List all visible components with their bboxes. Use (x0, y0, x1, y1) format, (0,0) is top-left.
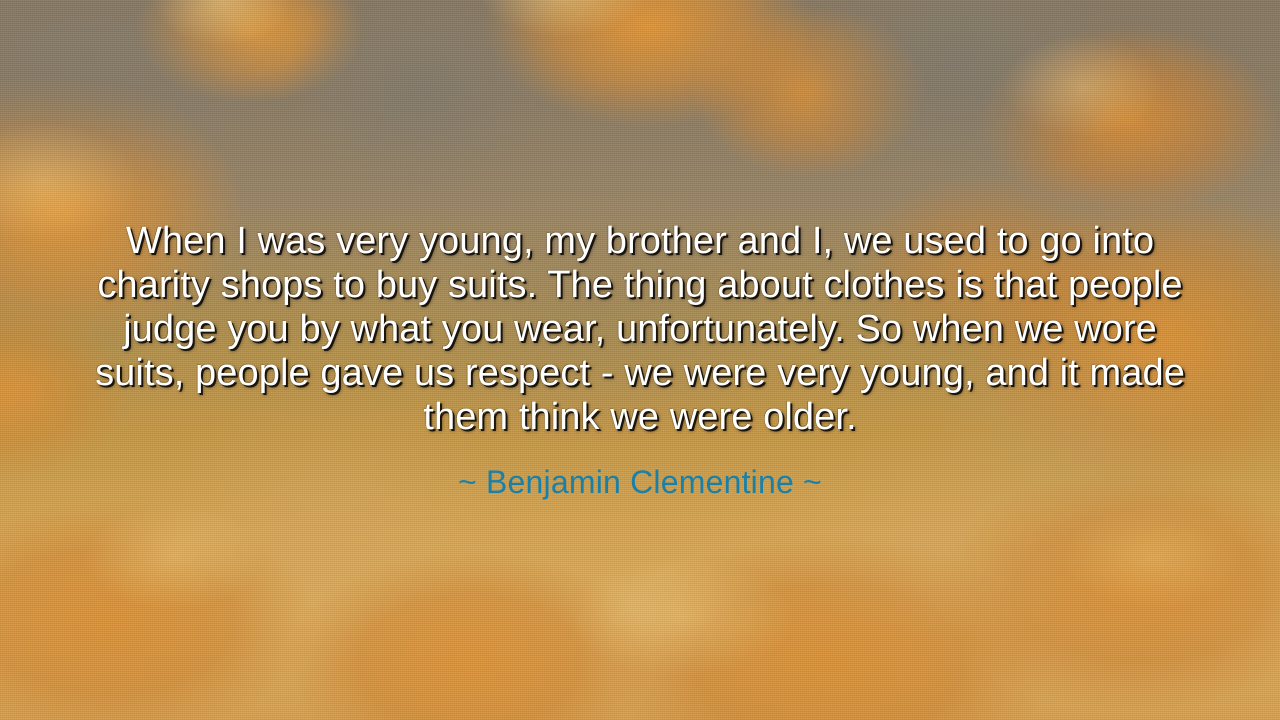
quote-text: When I was very young, my brother and I,… (91, 219, 1189, 439)
quote-card: When I was very young, my brother and I,… (0, 0, 1280, 720)
quote-content: When I was very young, my brother and I,… (0, 0, 1280, 720)
quote-author-attribution: ~ Benjamin Clementine ~ (458, 463, 822, 501)
